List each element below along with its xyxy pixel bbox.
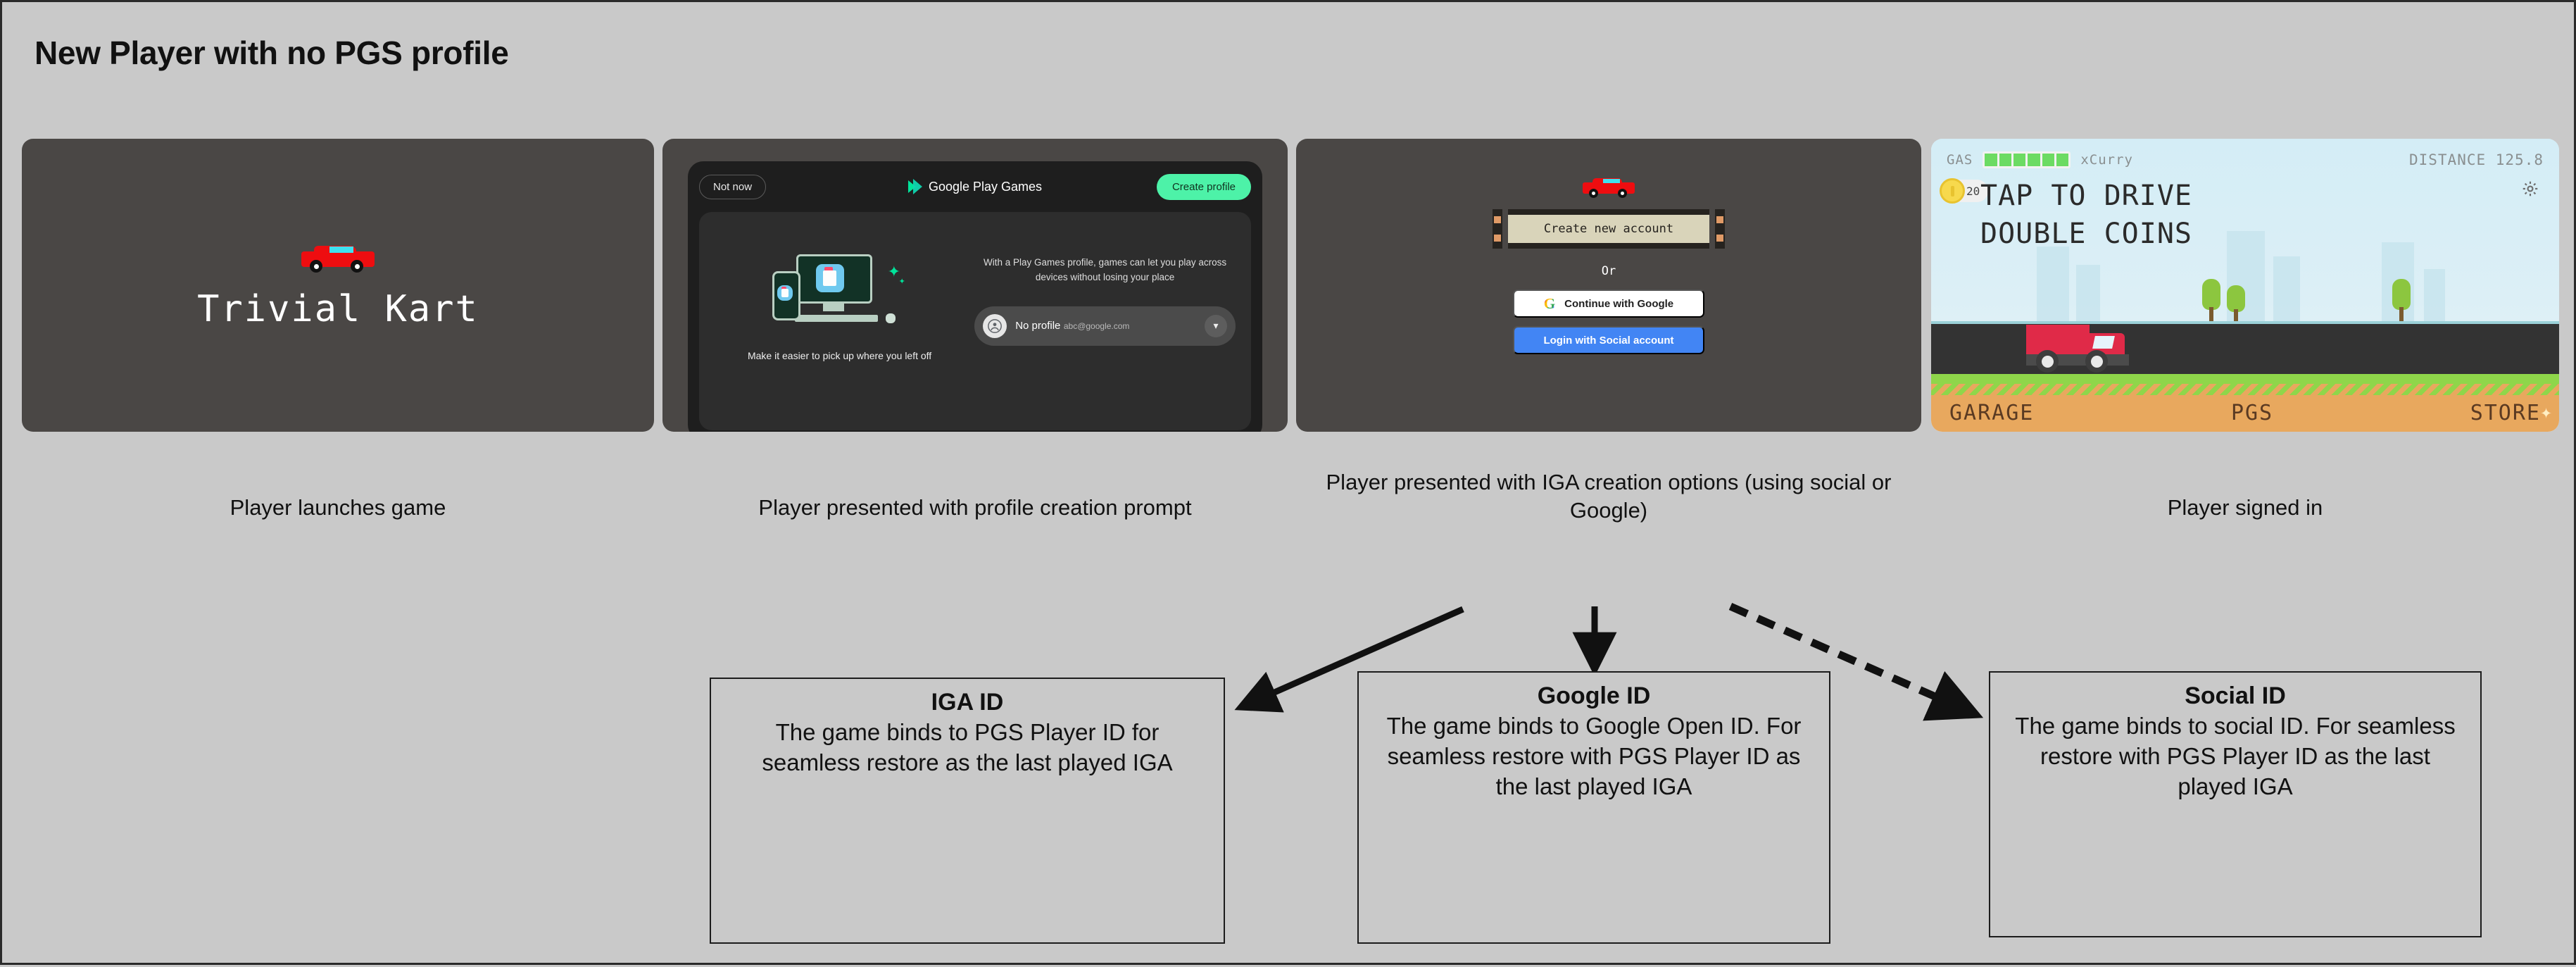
outcome-title: Social ID — [2004, 682, 2466, 710]
outcome-box-iga-id: IGA ID The game binds to PGS Player ID f… — [710, 678, 1225, 944]
outcome-body: The game binds to Google Open ID. For se… — [1373, 711, 1815, 802]
outcome-body: The game binds to social ID. For seamles… — [2004, 711, 2466, 802]
outcome-body: The game binds to PGS Player ID for seam… — [725, 718, 1210, 778]
outcome-title: IGA ID — [725, 689, 1210, 716]
outcome-box-social-id: Social ID The game binds to social ID. F… — [1989, 671, 2482, 937]
outcome-box-google-id: Google ID The game binds to Google Open … — [1357, 671, 1830, 944]
outcome-title: Google ID — [1373, 682, 1815, 710]
